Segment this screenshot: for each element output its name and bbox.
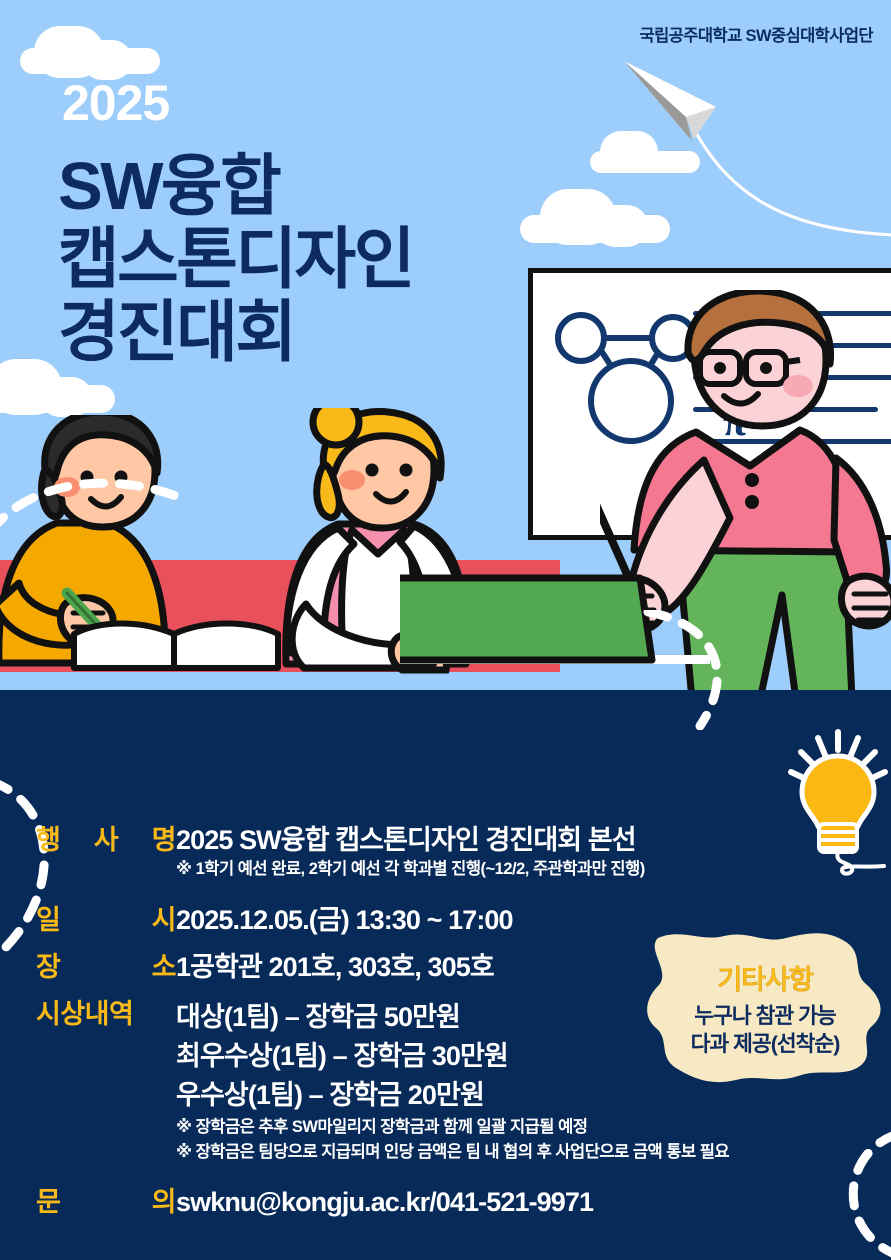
dashed-curve-decoration [0, 470, 180, 550]
poster-title: SW융합 캡스톤디자인 경진대회 [58, 150, 413, 369]
info-value-event-name: 2025 SW융합 캡스톤디자인 경진대회 본선 [176, 824, 645, 857]
info-row-event-name: 행 사 명 2025 SW융합 캡스톤디자인 경진대회 본선 ※ 1학기 예선 … [36, 824, 736, 882]
award-note: ※ 장학금은 추후 SW마일리지 장학금과 함께 일괄 지급될 예정 [176, 1115, 729, 1140]
info-label-venue: 장 소 [36, 951, 176, 984]
notebook-icon [70, 618, 290, 673]
info-label-awards: 시상내역 [36, 998, 176, 1031]
title-line-1: SW융합 [58, 150, 413, 223]
info-label-contact: 문 의 [36, 1186, 176, 1219]
info-row-venue: 장 소 1공학관 201호, 303호, 305호 [36, 951, 736, 984]
paper-plane-icon [620, 55, 740, 145]
title-line-2: 캡스톤디자인 [58, 223, 413, 296]
title-line-3: 경진대회 [58, 296, 413, 369]
award-note: ※ 장학금은 팀당으로 지급되며 인당 금액은 팀 내 협의 후 사업단으로 금… [176, 1140, 729, 1165]
badge-text-block: 기타사항 누구나 참관 가능 다과 제공(선착순) [640, 928, 890, 1088]
info-note-event-name: ※ 1학기 예선 완료, 2학기 예선 각 학과별 진행(~12/2, 주관학과… [176, 857, 645, 882]
dashed-curve-decoration [640, 610, 760, 730]
poster-year: 2025 [62, 78, 169, 128]
info-row-datetime: 일 시 2025.12.05.(금) 13:30 ~ 17:00 [36, 904, 736, 937]
badge-line: 다과 제공(선착순) [691, 1031, 840, 1059]
info-value-contact[interactable]: swknu@kongju.ac.kr/041-521-9971 [176, 1186, 593, 1219]
info-list: 행 사 명 2025 SW융합 캡스톤디자인 경진대회 본선 ※ 1학기 예선 … [36, 824, 736, 1221]
lightbulb-icon [788, 728, 888, 878]
badge-title: 기타사항 [717, 958, 812, 997]
poster-root: π [0, 0, 891, 1260]
info-row-contact: 문 의 swknu@kongju.ac.kr/041-521-9971 [36, 1186, 736, 1219]
badge-line: 누구나 참관 가능 [694, 1003, 835, 1031]
info-label-datetime: 일 시 [36, 904, 176, 937]
info-row-awards: 시상내역 대상(1팀) – 장학금 50만원 최우수상(1팀) – 장학금 30… [36, 998, 736, 1165]
extra-info-badge: 기타사항 누구나 참관 가능 다과 제공(선착순) [640, 928, 890, 1088]
info-value-datetime: 2025.12.05.(금) 13:30 ~ 17:00 [176, 904, 513, 937]
dashed-arc-decoration [836, 1130, 891, 1260]
info-value-venue: 1공학관 201호, 303호, 305호 [176, 951, 494, 984]
info-label-event-name: 행 사 명 [36, 824, 176, 857]
organization-label: 국립공주대학교 SW중심대학사업단 [640, 22, 873, 46]
